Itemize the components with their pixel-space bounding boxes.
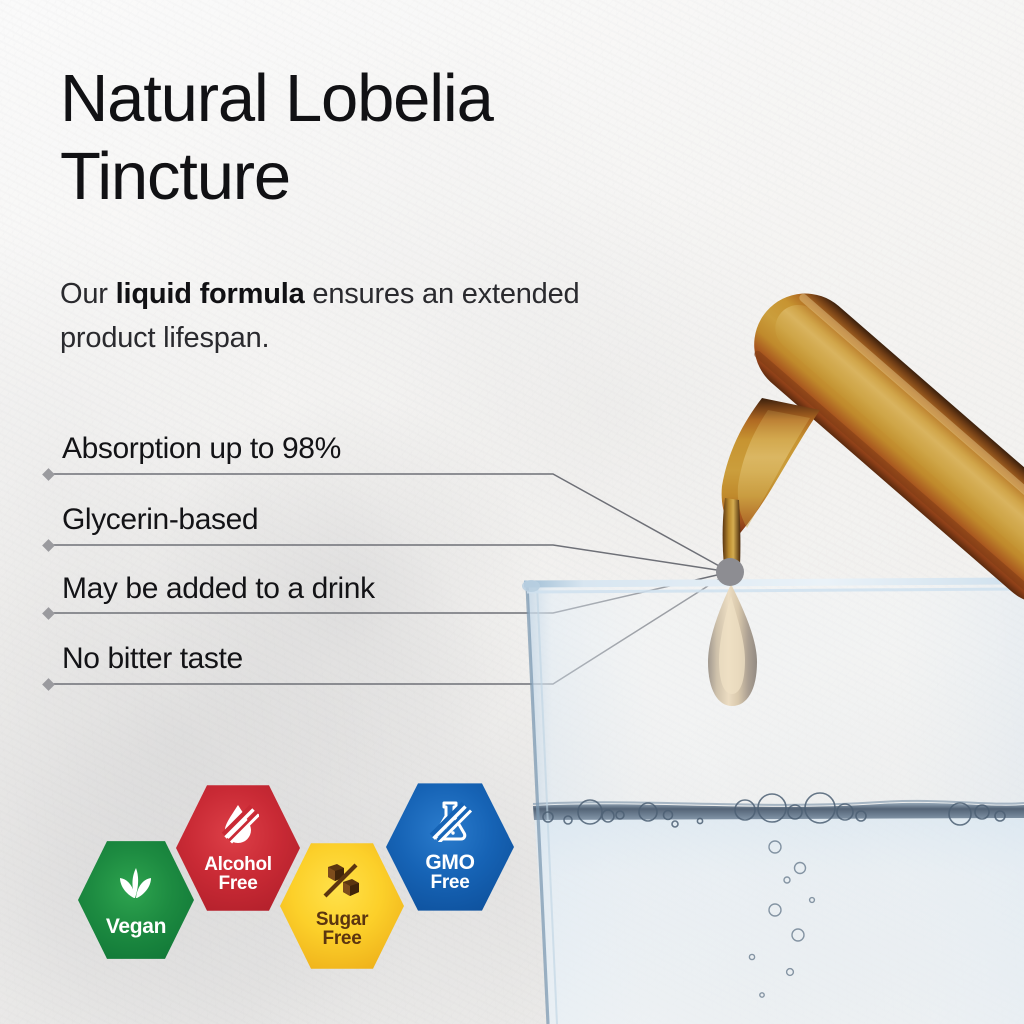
badge-vegan-line1: Vegan — [106, 916, 166, 937]
droplet-slash-icon — [217, 802, 259, 849]
badge-alcohol-free[interactable]: Alcohol Free — [176, 782, 300, 914]
product-infographic: Absorption up to 98% Glycerin-based May … — [0, 0, 1024, 1024]
certification-badges: Vegan Alcohol Free — [0, 0, 1024, 1024]
badge-alcohol-line2: Free — [219, 874, 258, 893]
badge-sugar-free[interactable]: Sugar Free — [280, 840, 404, 972]
badge-sugar-line1: Sugar — [316, 910, 368, 929]
badge-sugar-line2: Free — [323, 929, 362, 948]
badge-vegan[interactable]: Vegan — [78, 838, 194, 962]
sugar-cubes-slash-icon — [320, 862, 364, 905]
badge-gmo-line2: Free — [431, 873, 470, 892]
badge-gmo-free[interactable]: GMO Free — [386, 780, 514, 914]
badge-gmo-line1: GMO — [425, 852, 474, 873]
flask-slash-icon — [428, 800, 472, 847]
badge-alcohol-line1: Alcohol — [204, 855, 272, 874]
leaf-icon — [114, 864, 158, 909]
